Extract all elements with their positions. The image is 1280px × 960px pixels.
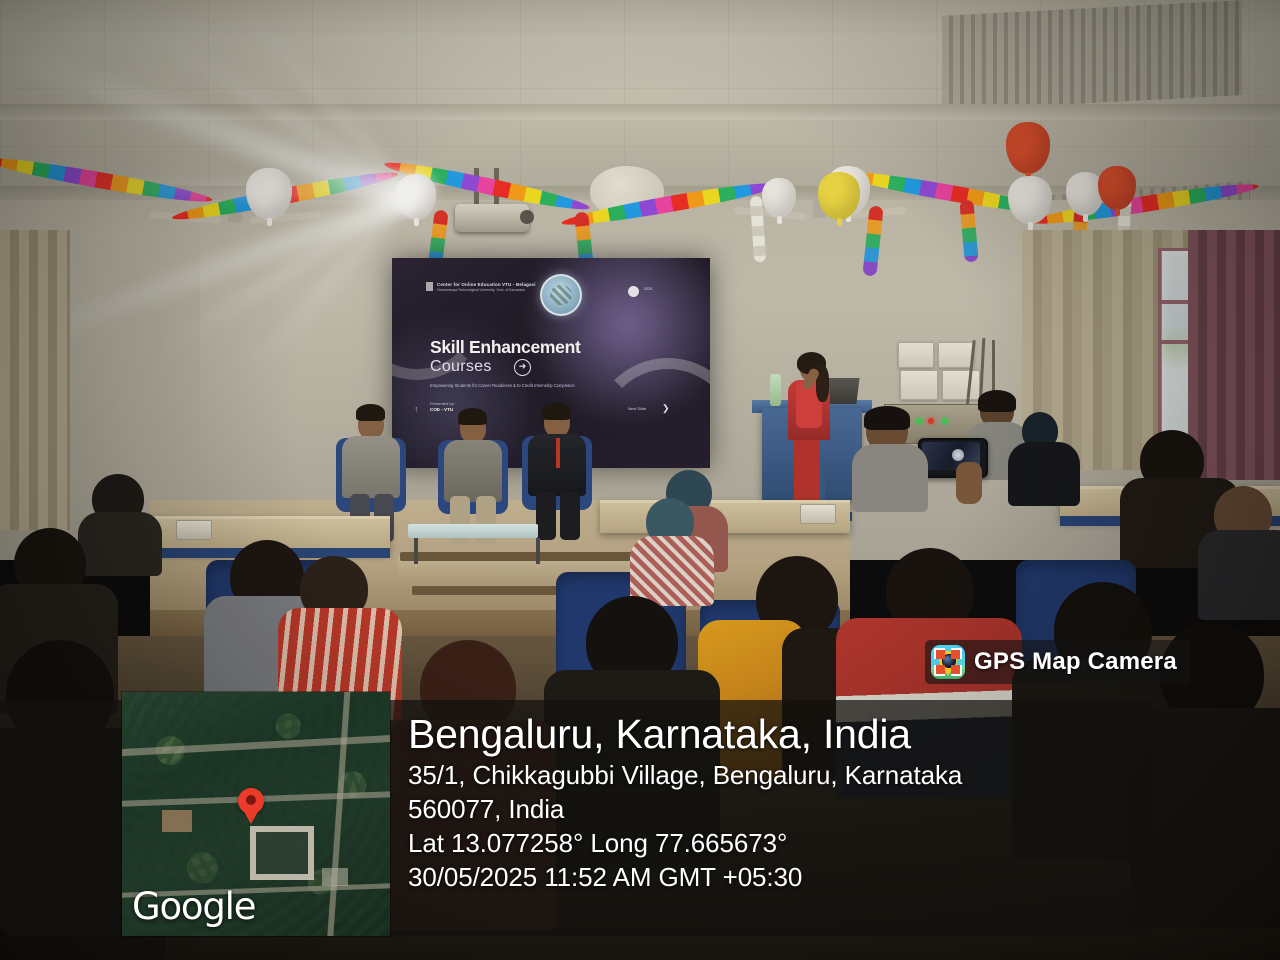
- status-led: [916, 418, 922, 424]
- map-building: [250, 826, 314, 880]
- ceiling-beam-upper: [0, 104, 1280, 120]
- wall-distribution-box: [900, 370, 938, 400]
- hand-holding-phone: [956, 462, 982, 504]
- location-city-line: Bengaluru, Karnataka, India: [408, 712, 1148, 758]
- map-building: [322, 868, 348, 886]
- wall-socket: [800, 504, 836, 524]
- google-watermark: Google: [132, 885, 255, 928]
- water-bottle: [770, 374, 781, 406]
- gps-map-camera-icon: [931, 645, 965, 679]
- speaker-lower-body: [794, 436, 820, 500]
- slide-presented-by: Presented by: COE - VTU: [430, 401, 455, 414]
- gps-map-camera-photo: Center for Online Education VTU - Belaga…: [0, 0, 1280, 960]
- slide-org-subtitle: Visvesvaraya Technological University, G…: [437, 288, 536, 292]
- location-coordinates: Lat 13.077258° Long 77.665673°: [408, 826, 1148, 860]
- globe-emblem-icon: [540, 274, 582, 316]
- slide-badge-text: 2025: [644, 287, 652, 291]
- slide-title: Skill Enhancement: [430, 337, 581, 358]
- wall-distribution-box: [898, 342, 934, 368]
- lens-flare-core: [380, 158, 444, 222]
- slide-presented-by-label: Presented by:: [430, 401, 455, 406]
- chevron-right-icon: ❯: [662, 403, 670, 414]
- map-thumbnail[interactable]: Google: [122, 692, 390, 936]
- slide-next-label: Next Slide: [628, 406, 646, 411]
- wall-distribution-box: [942, 370, 980, 400]
- projector: [455, 204, 529, 232]
- curtain-far-right: [1188, 230, 1280, 480]
- wall-distribution-box: [938, 342, 974, 368]
- status-led: [942, 418, 948, 424]
- arrow-right-circle-icon: ➜: [514, 359, 531, 376]
- projector-lens: [520, 210, 534, 224]
- slide-org-header: Center for Online Education VTU - Belaga…: [426, 282, 536, 292]
- slide-description: Empowering Students for Career Readiness…: [430, 383, 575, 389]
- stage-coffee-table: [408, 524, 538, 538]
- location-timestamp: 30/05/2025 11:52 AM GMT +05:30: [408, 860, 1148, 894]
- slide-subtitle: Courses: [430, 358, 492, 376]
- gps-map-camera-watermark: GPS Map Camera: [925, 640, 1191, 684]
- slide-presented-by-value: COE - VTU: [430, 407, 453, 412]
- location-text-block: Bengaluru, Karnataka, India 35/1, Chikka…: [408, 712, 1148, 894]
- slide-header-mark: [426, 282, 433, 291]
- location-address-line-2: 560077, India: [408, 792, 1148, 826]
- stage-table-legs: [414, 538, 540, 564]
- location-address-line-1: 35/1, Chikkagubbi Village, Bengaluru, Ka…: [408, 758, 1148, 792]
- lanyard: [556, 438, 560, 468]
- status-led: [928, 418, 934, 424]
- map-pin-icon: [238, 788, 264, 814]
- curtain-left: [0, 230, 70, 530]
- map-building: [162, 810, 192, 832]
- ceiling-vent-grille: [942, 0, 1242, 111]
- slide-badge-dot: [628, 286, 639, 297]
- slide-info-glyph: ↑: [414, 404, 419, 414]
- wall-socket: [176, 520, 212, 540]
- gps-map-camera-label: GPS Map Camera: [974, 648, 1177, 676]
